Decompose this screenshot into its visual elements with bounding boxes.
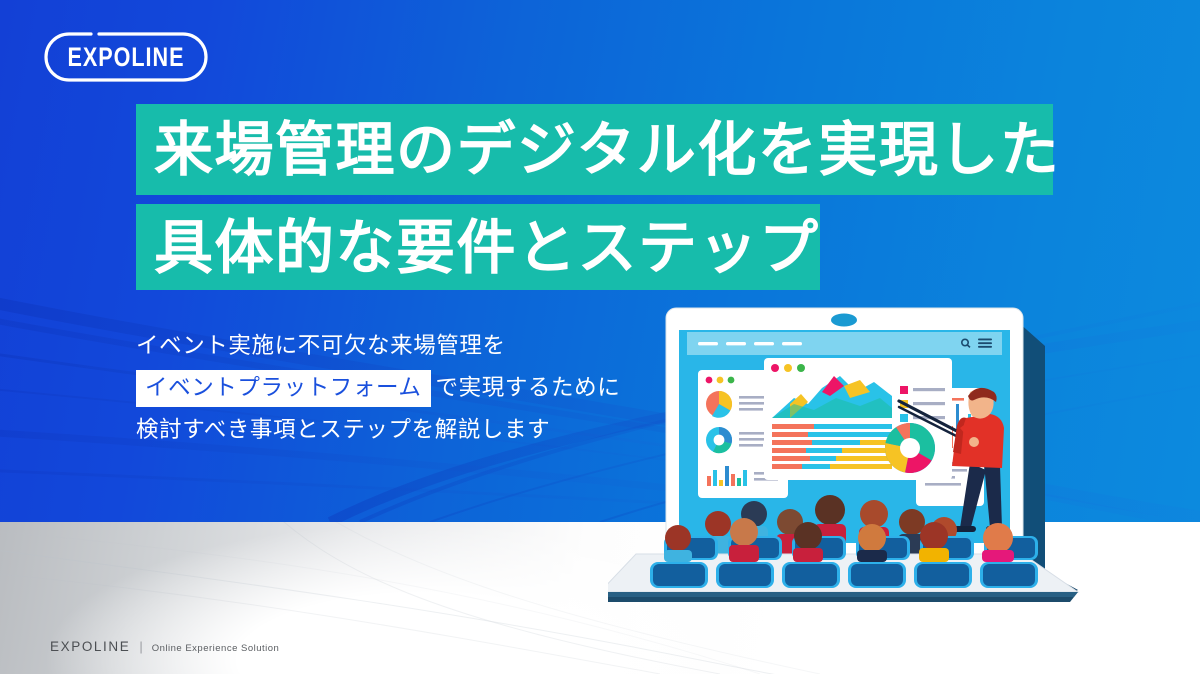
expoline-logo: EXPOLINE <box>33 31 219 83</box>
audience-person <box>982 523 1014 562</box>
presenter-shoe-left <box>954 526 976 532</box>
title-line-2: 具体的な要件とステップ <box>136 204 820 290</box>
title-line-1: 来場管理のデジタル化を実現した <box>136 104 1053 195</box>
laptop-seminar-illustration <box>608 300 1128 620</box>
footer-copyright: Confidential | Copyright© Sprasia,Inc. A… <box>865 641 1150 653</box>
subtitle-line-2: イベントプラットフォームで実現するために <box>136 367 676 409</box>
logo-wordmark: EXPOLINE <box>52 31 201 83</box>
footer-separator: | <box>139 639 142 654</box>
subtitle-line-2-rest: で実現するために <box>436 375 621 401</box>
presenter-hand <box>969 437 979 447</box>
audience-person <box>729 518 759 562</box>
title-line-1-text: 来場管理のデジタル化を実現した <box>154 120 1060 179</box>
footer-brand-block: EXPOLINE | Online Experience Solution <box>50 639 279 654</box>
main-donut-chart <box>885 423 935 473</box>
subtitle-highlight: イベントプラットフォーム <box>136 370 431 407</box>
slide-canvas: EXPOLINE 来場管理のデジタル化を実現した 具体的な要件とステップ イベン… <box>0 0 1200 674</box>
audience-person <box>664 525 692 562</box>
laptop-camera-notch <box>831 314 857 327</box>
audience-person <box>793 522 823 562</box>
main-card-dots <box>771 364 805 372</box>
audience-person <box>919 522 949 562</box>
card-left-dots <box>706 377 735 384</box>
browser-menu-icon <box>978 339 992 348</box>
subtitle-line-3: 検討すべき事項とステップを解説します <box>136 409 676 451</box>
illustration-svg <box>608 300 1128 620</box>
title-line-2-text: 具体的な要件とステップ <box>154 218 820 277</box>
footer-brand: EXPOLINE <box>50 639 130 654</box>
footer-tagline: Online Experience Solution <box>152 643 280 654</box>
subtitle-block: イベント実施に不可欠な来場管理を イベントプラットフォームで実現するために 検討… <box>136 325 676 451</box>
subtitle-line-1: イベント実施に不可欠な来場管理を <box>136 325 676 367</box>
audience-person <box>857 524 887 562</box>
